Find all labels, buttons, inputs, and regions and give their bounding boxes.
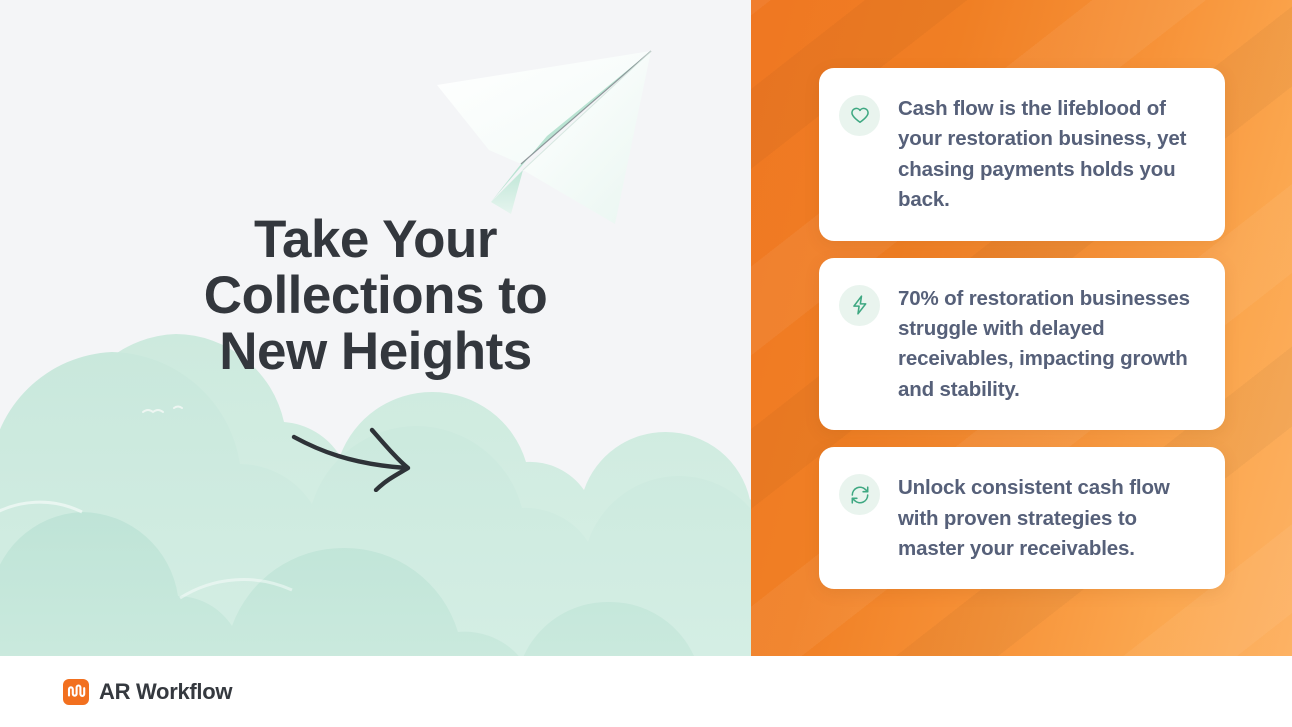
ar-workflow-logo-icon: [63, 679, 89, 705]
feature-right-panel: Cash flow is the lifeblood of your resto…: [751, 0, 1292, 656]
feature-card[interactable]: 70% of restoration businesses struggle w…: [819, 258, 1225, 431]
heart-icon: [839, 95, 880, 136]
feature-card-text: Cash flow is the lifeblood of your resto…: [898, 93, 1201, 216]
page-title: Take Your Collections to New Heights: [0, 212, 751, 380]
slide-root: Take Your Collections to New Heights Cas…: [0, 0, 1292, 727]
refresh-cycle-icon: [839, 474, 880, 515]
feature-card[interactable]: Cash flow is the lifeblood of your resto…: [819, 68, 1225, 241]
footer-bar: AR Workflow: [0, 656, 1292, 727]
feature-card[interactable]: Unlock consistent cash flow with proven …: [819, 447, 1225, 589]
brand-logo-text: AR Workflow: [99, 679, 232, 705]
brand-logo[interactable]: AR Workflow: [63, 679, 232, 705]
hero-left-panel: Take Your Collections to New Heights: [0, 0, 751, 656]
lightning-bolt-icon: [839, 285, 880, 326]
curved-arrow-icon: [288, 424, 423, 492]
feature-card-list: Cash flow is the lifeblood of your resto…: [819, 68, 1225, 589]
feature-card-text: Unlock consistent cash flow with proven …: [898, 472, 1201, 564]
feature-card-text: 70% of restoration businesses struggle w…: [898, 283, 1201, 406]
paper-plane-icon: [425, 38, 670, 233]
